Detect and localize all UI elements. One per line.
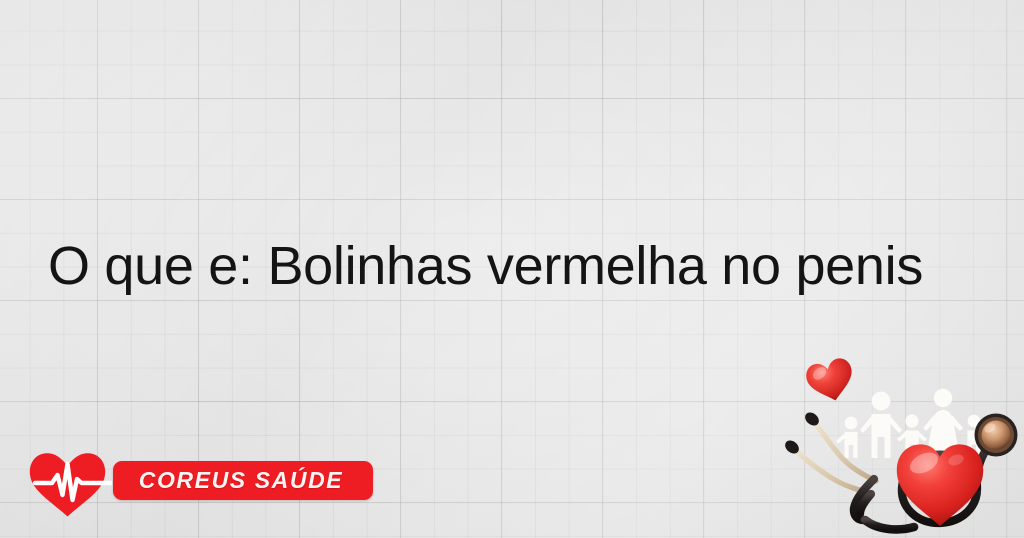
family-health-illustration	[778, 348, 1024, 538]
small-heart-icon	[804, 356, 858, 406]
chestpiece-icon	[975, 414, 1018, 457]
brand-badge: COREUS SAÚDE	[113, 461, 373, 500]
thumbnail-canvas: O que e: Bolinhas vermelha no penis CORE…	[0, 0, 1024, 538]
heart-pulse-icon	[28, 450, 112, 518]
page-title: O que e: Bolinhas vermelha no penis	[48, 235, 998, 297]
brand-name-label: COREUS SAÚDE	[113, 461, 373, 500]
brand-lockup: COREUS SAÚDE	[28, 448, 358, 520]
